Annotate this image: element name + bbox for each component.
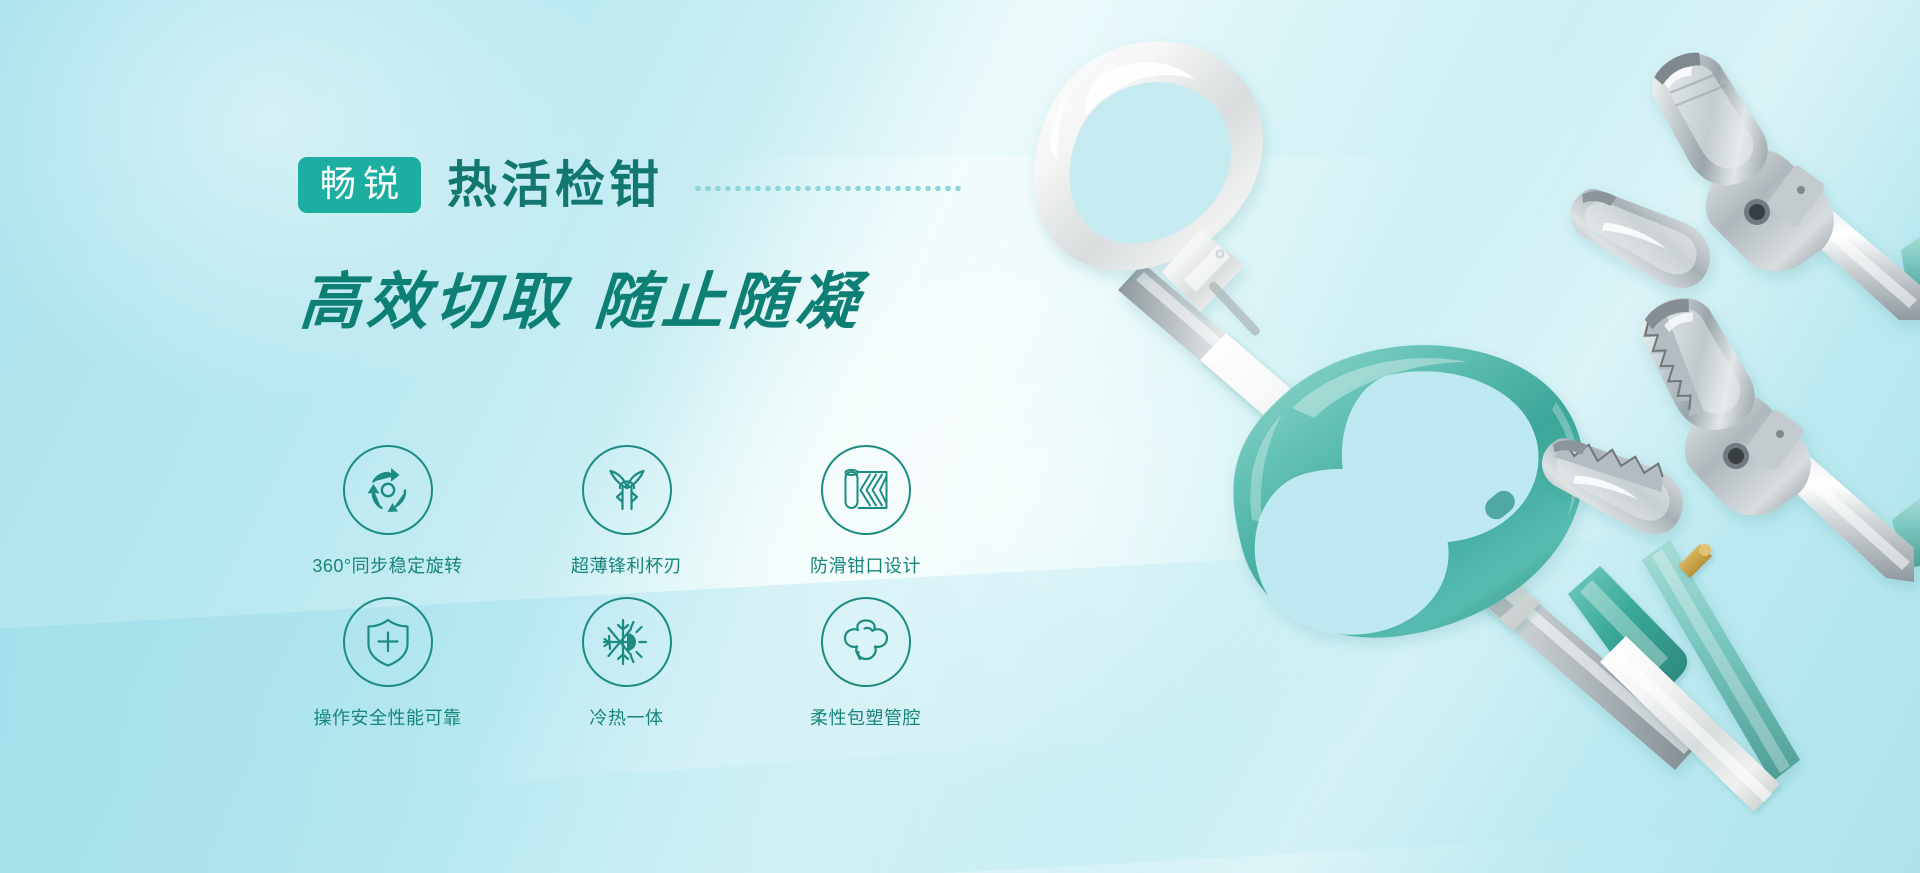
hot-cold-icon	[582, 597, 672, 687]
smooth-cup-jaws	[1559, 37, 1920, 320]
page-title: 热活检钳	[447, 160, 663, 210]
feature-item-blade: 超薄锋利杯刃	[507, 445, 746, 597]
feature-item-hotcold: 冷热一体	[507, 597, 746, 749]
feature-label: 防滑钳口设计	[810, 557, 921, 575]
feature-label: 柔性包塑管腔	[810, 709, 921, 727]
feature-item-grip: 防滑钳口设计	[746, 445, 985, 597]
feature-label: 冷热一体	[590, 709, 664, 727]
product-image	[900, 0, 1920, 873]
shield-plus-icon	[343, 597, 433, 687]
tagline: 高效切取 随止随凝	[298, 268, 865, 336]
banner-text-content: 畅锐 热活检钳 高效切取 随止随凝	[0, 0, 1050, 873]
product-banner: 畅锐 热活检钳 高效切取 随止随凝	[0, 0, 1920, 873]
feature-label: 360°同步稳定旋转	[312, 557, 462, 575]
feature-list: 360°同步稳定旋转 超薄锋利杯刃	[268, 445, 985, 749]
feature-label: 操作安全性能可靠	[314, 709, 462, 727]
feature-item-lumen: 柔性包塑管腔	[746, 597, 985, 749]
forceps-cup-blade-icon	[582, 445, 672, 535]
brand-badge: 畅锐	[298, 157, 421, 213]
feature-label: 超薄锋利杯刃	[571, 557, 682, 575]
title-row: 畅锐 热活检钳	[298, 157, 961, 213]
rotation-360-icon	[343, 445, 433, 535]
anti-slip-jaw-icon	[821, 445, 911, 535]
serrated-alligator-jaws	[1532, 283, 1920, 582]
feature-item-rotation: 360°同步稳定旋转	[268, 445, 507, 597]
flexible-lumen-icon	[821, 597, 911, 687]
feature-item-safety: 操作安全性能可靠	[268, 597, 507, 749]
dotted-line-icon	[693, 186, 961, 191]
